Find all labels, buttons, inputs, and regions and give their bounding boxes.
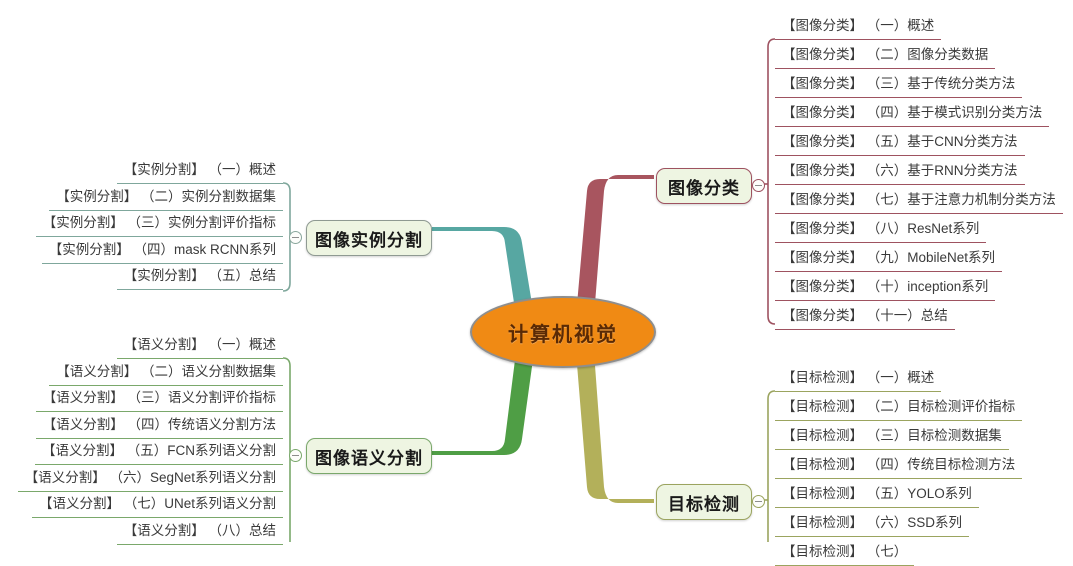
collapse-toggle-image-classification[interactable]	[752, 179, 765, 192]
collapse-toggle-instance-segmentation[interactable]	[289, 231, 302, 244]
branch-label-semantic-segmentation: 图像语义分割	[315, 444, 423, 469]
leaf-semantic-segmentation-5[interactable]: 【语义分割】 （五）FCN系列语义分割	[35, 439, 283, 465]
leaf-semantic-segmentation-4[interactable]: 【语义分割】 （四）传统语义分割方法	[36, 413, 283, 439]
leaf-semantic-segmentation-2[interactable]: 【语义分割】 （二）语义分割数据集	[49, 360, 283, 386]
leaf-instance-segmentation-5[interactable]: 【实例分割】 （五）总结	[117, 264, 283, 290]
leaf-instance-segmentation-3[interactable]: 【实例分割】 （三）实例分割评价指标	[36, 211, 283, 237]
connector-semantic-segmentation	[432, 352, 534, 455]
leaf-object-detection-2[interactable]: 【目标检测】 （二）目标检测评价指标	[775, 395, 1022, 421]
leaf-image-classification-1[interactable]: 【图像分类】 （一）概述	[775, 14, 941, 40]
leaf-image-classification-5[interactable]: 【图像分类】 （五）基于CNN分类方法	[775, 130, 1025, 156]
leaf-instance-segmentation-4[interactable]: 【实例分割】 （四）mask RCNN系列	[42, 238, 283, 264]
leaf-image-classification-10[interactable]: 【图像分类】 （十）inception系列	[775, 275, 995, 301]
connector-object-detection	[576, 352, 654, 503]
branch-object-detection[interactable]: 目标检测	[656, 484, 752, 520]
leaf-object-detection-4[interactable]: 【目标检测】 （四）传统目标检测方法	[775, 453, 1022, 479]
branch-label-image-classification: 图像分类	[668, 174, 740, 199]
leaf-semantic-segmentation-6[interactable]: 【语义分割】 （六）SegNet系列语义分割	[18, 466, 283, 492]
root-node[interactable]: 计算机视觉	[470, 296, 656, 368]
branch-image-classification[interactable]: 图像分类	[656, 168, 752, 204]
leaf-object-detection-1[interactable]: 【目标检测】 （一）概述	[775, 366, 941, 392]
leaf-image-classification-4[interactable]: 【图像分类】 （四）基于模式识别分类方法	[775, 101, 1049, 127]
collapse-toggle-semantic-segmentation[interactable]	[289, 449, 302, 462]
branch-instance-segmentation[interactable]: 图像实例分割	[306, 220, 432, 256]
leaf-image-classification-2[interactable]: 【图像分类】 （二）图像分类数据	[775, 43, 995, 69]
branch-label-object-detection: 目标检测	[668, 490, 740, 515]
leaf-semantic-segmentation-1[interactable]: 【语义分割】 （一）概述	[117, 333, 283, 359]
connector-image-classification	[576, 175, 654, 316]
branch-label-instance-segmentation: 图像实例分割	[315, 226, 423, 251]
leaf-image-classification-7[interactable]: 【图像分类】 （七）基于注意力机制分类方法	[775, 188, 1063, 214]
leaf-image-classification-9[interactable]: 【图像分类】 （九）MobileNet系列	[775, 246, 1002, 272]
leaf-image-classification-11[interactable]: 【图像分类】 （十一）总结	[775, 304, 955, 330]
root-label: 计算机视觉	[508, 318, 618, 347]
leaf-object-detection-3[interactable]: 【目标检测】 （三）目标检测数据集	[775, 424, 1009, 450]
leaf-semantic-segmentation-7[interactable]: 【语义分割】 （七）UNet系列语义分割	[32, 492, 283, 518]
leaf-instance-segmentation-2[interactable]: 【实例分割】 （二）实例分割数据集	[49, 185, 283, 211]
leaf-object-detection-7[interactable]: 【目标检测】 （七）	[775, 540, 914, 566]
leaf-image-classification-6[interactable]: 【图像分类】 （六）基于RNN分类方法	[775, 159, 1025, 185]
collapse-toggle-object-detection[interactable]	[752, 495, 765, 508]
leaf-semantic-segmentation-3[interactable]: 【语义分割】 （三）语义分割评价指标	[36, 386, 283, 412]
leaf-instance-segmentation-1[interactable]: 【实例分割】 （一）概述	[117, 158, 283, 184]
spine-object-detection	[758, 391, 775, 542]
leaf-object-detection-5[interactable]: 【目标检测】 （五）YOLO系列	[775, 482, 979, 508]
leaf-semantic-segmentation-8[interactable]: 【语义分割】 （八）总结	[117, 519, 283, 545]
mindmap-canvas: 计算机视觉 图像实例分割 图像语义分割 图像分类 目标检测 【图像分类】 （一）…	[0, 0, 1073, 542]
branch-semantic-segmentation[interactable]: 图像语义分割	[306, 438, 432, 474]
leaf-object-detection-6[interactable]: 【目标检测】 （六）SSD系列	[775, 511, 969, 537]
leaf-image-classification-3[interactable]: 【图像分类】 （三）基于传统分类方法	[775, 72, 1022, 98]
leaf-image-classification-8[interactable]: 【图像分类】 （八）ResNet系列	[775, 217, 986, 243]
